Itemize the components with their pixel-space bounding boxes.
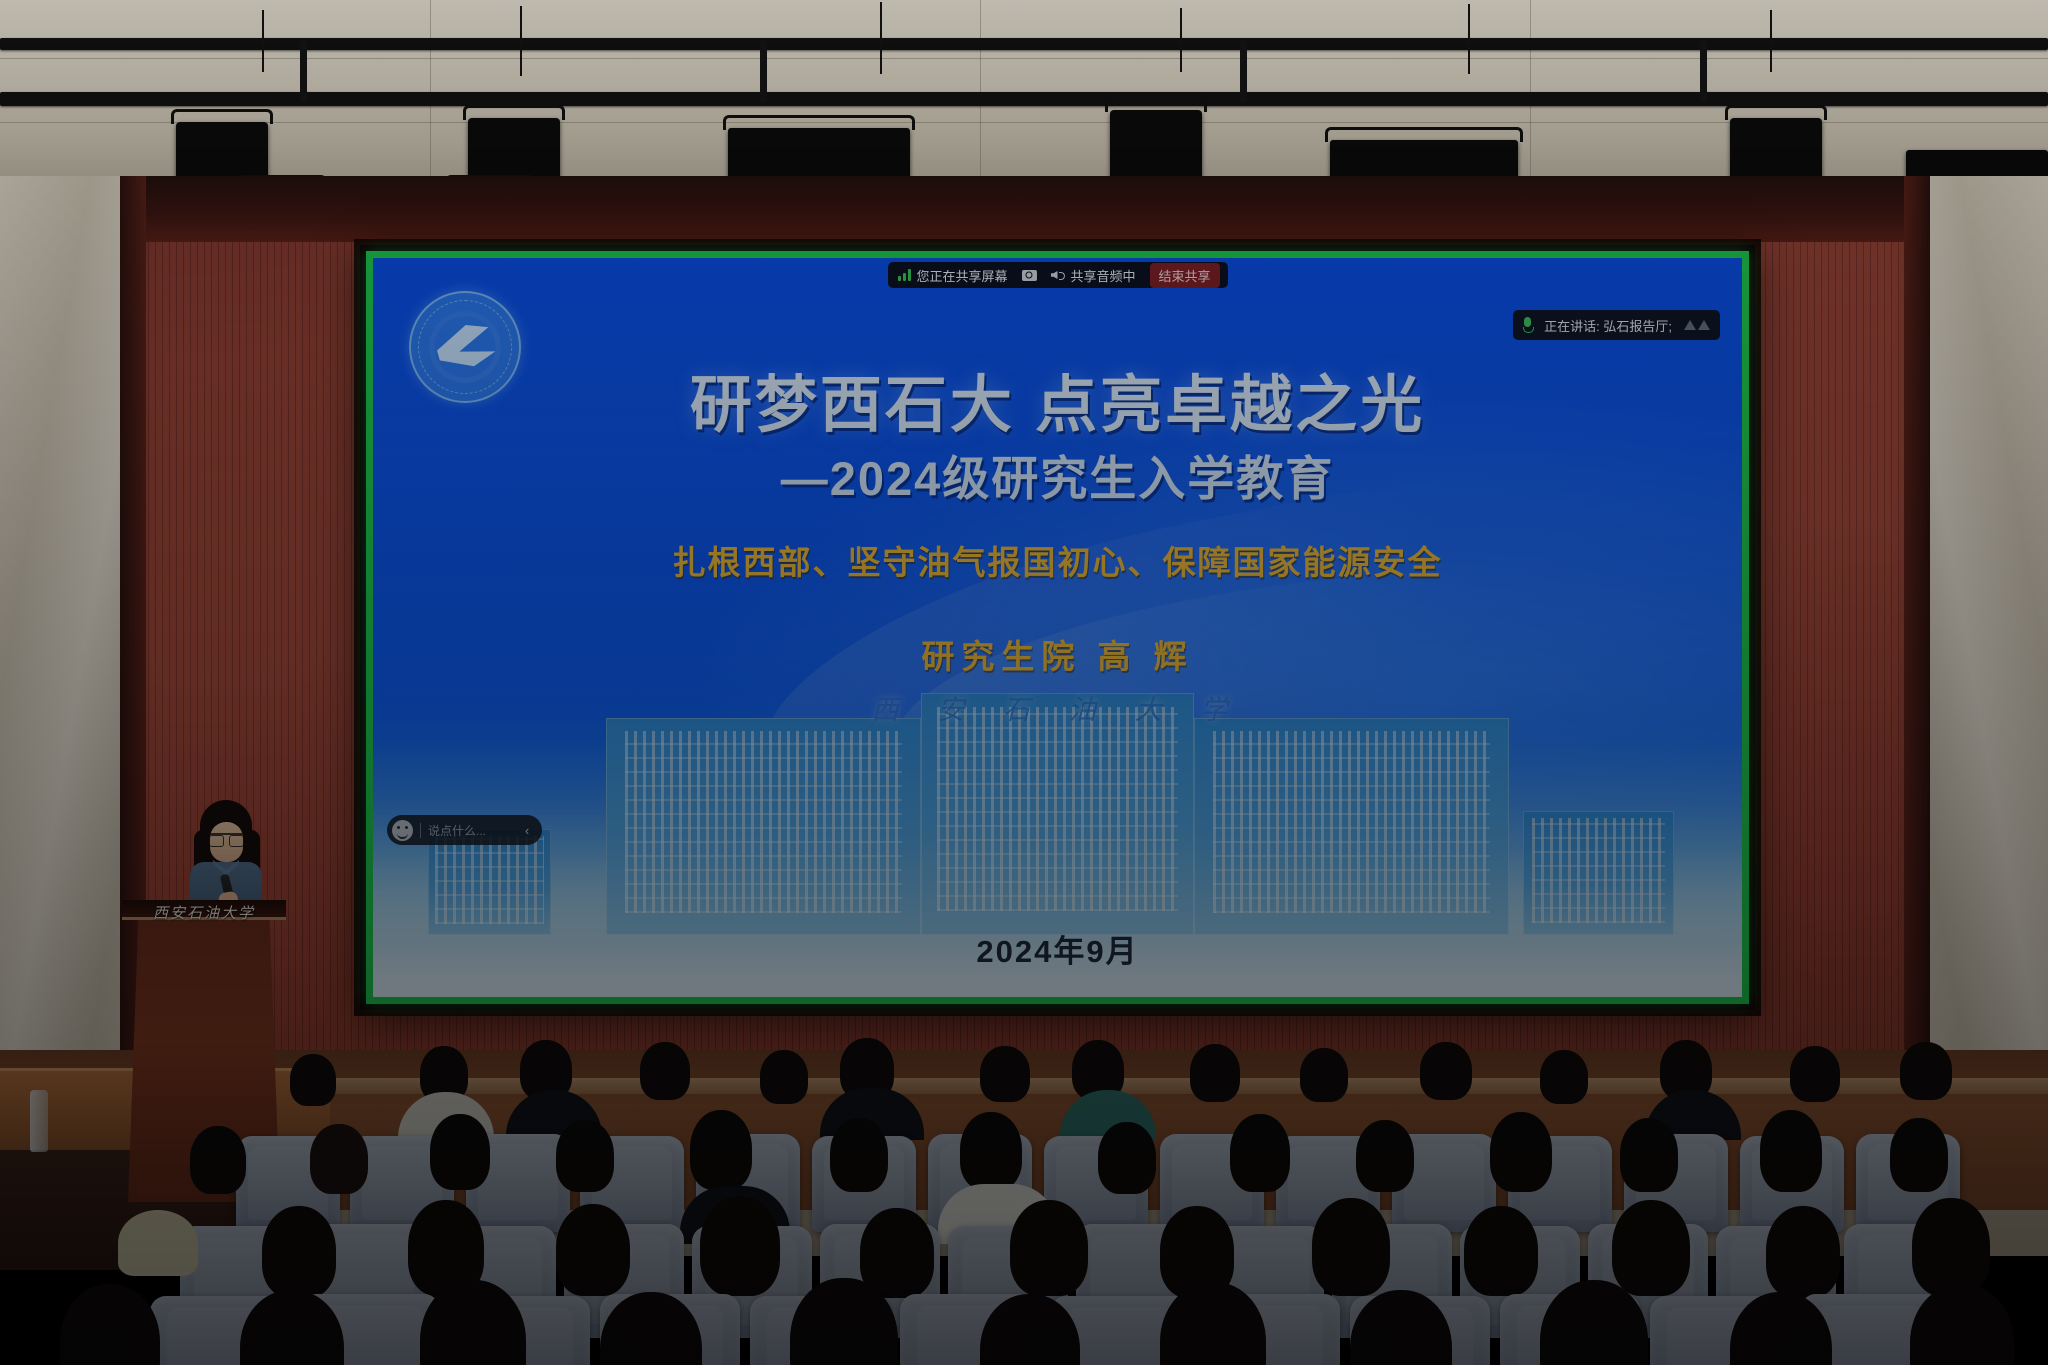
chevron-left-icon[interactable]: ‹: [516, 823, 538, 838]
audience-head: [960, 1112, 1022, 1190]
audience-head: [190, 1126, 246, 1194]
audience-head: [1098, 1122, 1156, 1194]
lighting-cable: [1180, 8, 1182, 72]
audience-head: [860, 1208, 934, 1298]
audience-head: [700, 1196, 780, 1296]
audience-head: [1766, 1206, 1840, 1298]
truss-support: [300, 40, 307, 102]
campus-building-far-left: [428, 829, 551, 935]
truss-support: [1700, 40, 1707, 102]
slide-tagline: 扎根西部、坚守油气报国初心、保障国家能源安全: [373, 536, 1742, 584]
campus-building-far-right: [1523, 811, 1674, 935]
audience-head: [1912, 1198, 1990, 1296]
speaker-icon: [1050, 269, 1064, 281]
signal-bars-icon: [897, 269, 910, 281]
audience-head: [640, 1042, 690, 1100]
slide-presenter: 研究生院 高 辉: [373, 630, 1742, 678]
wall-upper-band: [120, 176, 1930, 242]
auditorium-scene: 西 安 石 油 大 学 研梦西石大 点亮卓越之光 —2024级研究生入学教育 扎…: [0, 0, 2048, 1365]
audience-head: [1190, 1044, 1240, 1102]
campus-building-center: [921, 693, 1195, 935]
screen-share-status: 您正在共享屏幕: [897, 266, 1007, 285]
audience-head: [1760, 1110, 1822, 1192]
lectern-name-plate: 西安石油大学: [128, 902, 280, 923]
ceiling-panel-line: [0, 58, 2048, 59]
audience-head: [556, 1204, 630, 1296]
ceiling-panel-line: [430, 0, 431, 176]
truss-support: [760, 40, 767, 102]
screen-share-label: 您正在共享屏幕: [916, 266, 1007, 285]
sound-wave-icon: [1684, 320, 1710, 330]
active-speaker-label: 正在讲话: 弘石报告厅;: [1544, 316, 1672, 335]
microphone-icon: [1523, 317, 1532, 333]
audience-head: [1356, 1120, 1414, 1192]
campus-building-right-wing: [1194, 718, 1509, 935]
audience-head: [1490, 1112, 1552, 1192]
ceiling-panel-line: [980, 0, 981, 176]
audience-head: [290, 1054, 336, 1106]
audience-head: [1420, 1042, 1472, 1100]
audience-head: [1230, 1114, 1290, 1192]
screen-share-toolbar[interactable]: 您正在共享屏幕 共享音频中 结束共享: [887, 262, 1227, 288]
audience-head: [60, 1284, 160, 1365]
audience-head: [310, 1124, 368, 1194]
audience-head: [556, 1120, 614, 1192]
projected-slide: 西 安 石 油 大 学 研梦西石大 点亮卓越之光 —2024级研究生入学教育 扎…: [373, 258, 1742, 997]
glasses-icon: [209, 833, 244, 843]
audience-head: [1890, 1118, 1948, 1192]
lighting-cable: [880, 2, 882, 74]
audience-head: [262, 1206, 336, 1298]
slide-date: 2024年9月: [373, 926, 1742, 971]
lighting-truss-bar: [0, 92, 2048, 106]
audio-share-label: 共享音频中: [1070, 266, 1135, 285]
slide-title: 研梦西石大 点亮卓越之光: [373, 354, 1742, 444]
audience-head: [1540, 1050, 1588, 1104]
divider: [420, 823, 421, 838]
audience-head: [1464, 1206, 1538, 1296]
chat-input-widget[interactable]: 说点什么... ‹: [387, 815, 542, 845]
audience-head-with-cap: [118, 1210, 198, 1276]
lighting-truss-bar: [0, 38, 2048, 50]
lighting-cable: [1468, 4, 1470, 74]
lighting-cable: [1770, 10, 1772, 72]
audience-head: [430, 1114, 490, 1190]
audience-head: [690, 1110, 752, 1190]
end-share-button[interactable]: 结束共享: [1150, 263, 1220, 288]
audience-head: [760, 1050, 808, 1104]
audience-head: [980, 1046, 1030, 1102]
audience-area: [0, 1040, 2048, 1365]
truss-support: [1240, 40, 1247, 102]
camera-icon[interactable]: [1021, 270, 1036, 281]
audience-head: [1790, 1046, 1840, 1102]
side-wall-left: [0, 176, 128, 1186]
audience-head: [1900, 1042, 1952, 1100]
chat-input[interactable]: 说点什么...: [428, 822, 516, 839]
audience-head: [830, 1118, 888, 1192]
audience-head: [1612, 1200, 1690, 1296]
active-speaker-indicator: 正在讲话: 弘石报告厅;: [1513, 310, 1720, 340]
projection-screen: 西 安 石 油 大 学 研梦西石大 点亮卓越之光 —2024级研究生入学教育 扎…: [360, 245, 1755, 1010]
audience-head: [1312, 1198, 1390, 1296]
lighting-cable: [520, 6, 522, 76]
side-wall-right: [1928, 176, 2048, 1186]
lighting-cable: [262, 10, 264, 72]
audience-head: [1010, 1200, 1088, 1296]
ceiling-panel-line: [1530, 0, 1531, 176]
audio-share-status: 共享音频中: [1050, 266, 1135, 285]
slide-subtitle: —2024级研究生入学教育: [373, 440, 1742, 509]
audience-head: [1300, 1048, 1348, 1102]
emoji-face-icon[interactable]: [392, 820, 413, 841]
campus-calligraphy: 西 安 石 油 大 学: [872, 688, 1244, 727]
campus-building-left-wing: [606, 718, 921, 935]
audience-head: [1620, 1118, 1678, 1192]
